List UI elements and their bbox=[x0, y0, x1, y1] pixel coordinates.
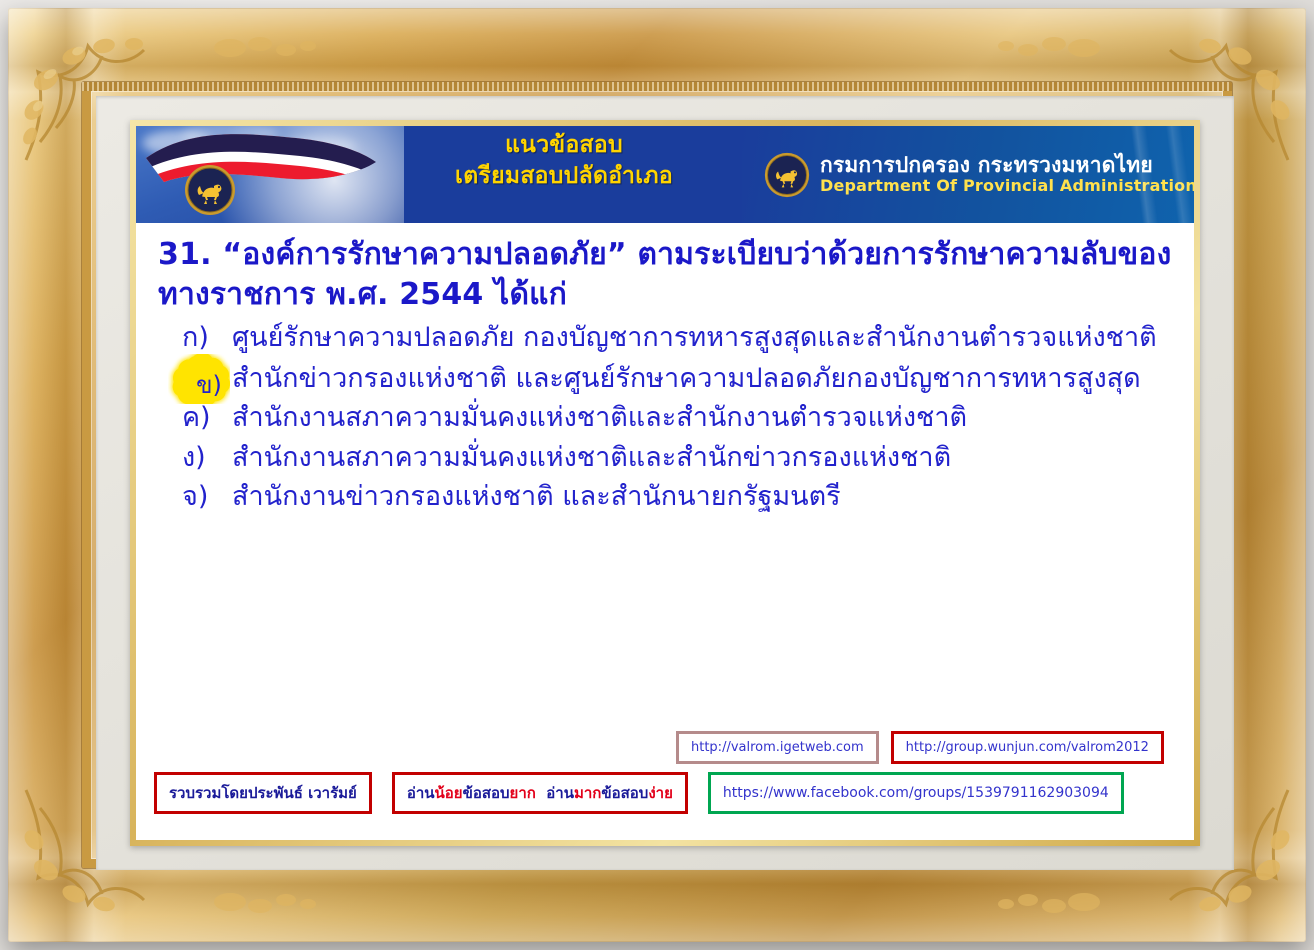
slogan-token-3: ยาก bbox=[510, 784, 536, 802]
choice-cho[interactable]: จ) สำนักงานข่าวกรองแห่งชาติ และสำนักนายก… bbox=[178, 478, 1176, 516]
slogan-token-1: น้อย bbox=[435, 784, 463, 802]
choice-label-ngo: ง) bbox=[178, 439, 232, 477]
link-facebook-group[interactable]: https://www.facebook.com/groups/15397911… bbox=[708, 772, 1124, 814]
org-names: กรมการปกครอง กระทรวงมหาดไทย Department O… bbox=[820, 154, 1194, 195]
link-valrom-igetweb[interactable]: http://valrom.igetweb.com bbox=[676, 731, 879, 764]
choice-ngo[interactable]: ง) สำนักงานสภาความมั่นคงแห่งชาติและสำนัก… bbox=[178, 439, 1176, 477]
credit-box: รวบรวมโดยประพันธ์ เวารัมย์ bbox=[154, 772, 372, 814]
choice-text-ka: ศูนย์รักษาความปลอดภัย กองบัญชาการทหารสูง… bbox=[232, 319, 1176, 357]
banner-title: แนวข้อสอบ เตรียมสอบปลัดอำเภอ bbox=[404, 130, 724, 191]
slogan-token-0: อ่าน bbox=[407, 784, 435, 802]
dopa-lion-seal-icon-right bbox=[764, 152, 810, 198]
choice-label-cho: จ) bbox=[178, 478, 232, 516]
choice-label-ka: ก) bbox=[178, 319, 232, 357]
slide-body: 31. “องค์การรักษาความปลอดภัย” ตามระเบียบ… bbox=[136, 223, 1194, 516]
choice-text-kho2: สำนักงานสภาความมั่นคงแห่งชาติและสำนักงาน… bbox=[232, 399, 1176, 437]
slogan-token-4: อ่าน bbox=[536, 784, 574, 802]
picture-frame: แนวข้อสอบ เตรียมสอบปลัดอำเภอ bbox=[8, 8, 1306, 942]
banner-org-panel: กรมการปกครอง กระทรวงมหาดไทย Department O… bbox=[742, 126, 1194, 223]
frame-edge-ornament-top-left bbox=[208, 24, 328, 70]
footer-links-top-row: http://valrom.igetweb.com http://group.w… bbox=[676, 731, 1164, 764]
dopa-lion-seal-icon bbox=[184, 164, 236, 216]
frame-gold-fillet: แนวข้อสอบ เตรียมสอบปลัดอำเภอ bbox=[130, 120, 1200, 846]
footer-links-bottom-row: รวบรวมโดยประพันธ์ เวารัมย์ อ่านน้อยข้อสอ… bbox=[154, 772, 1182, 814]
slogan-tokens: อ่านน้อยข้อสอบยาก อ่านมากข้อสอบง่าย bbox=[407, 781, 673, 805]
org-name-thai: กรมการปกครอง กระทรวงมหาดไทย bbox=[820, 154, 1194, 176]
slogan-token-6: ข้อสอบ bbox=[601, 784, 648, 802]
slogan-box: อ่านน้อยข้อสอบยาก อ่านมากข้อสอบง่าย bbox=[392, 772, 688, 814]
choice-kho[interactable]: ข) สำนักข่าวกรองแห่งชาติ และศูนย์รักษาคว… bbox=[178, 360, 1176, 398]
frame-edge-ornament-bottom-left bbox=[208, 880, 328, 926]
frame-edge-ornament-top-right bbox=[986, 24, 1106, 70]
choice-label-kho: ข) bbox=[178, 360, 240, 410]
choice-text-kho: สำนักข่าวกรองแห่งชาติ และศูนย์รักษาความป… bbox=[232, 360, 1176, 398]
link-group-wunjun[interactable]: http://group.wunjun.com/valrom2012 bbox=[891, 731, 1164, 764]
org-name-english: Department Of Provincial Administration bbox=[820, 177, 1194, 195]
choice-text-cho: สำนักงานข่าวกรองแห่งชาติ และสำนักนายกรัฐ… bbox=[232, 478, 1176, 516]
thai-flag-icon bbox=[140, 128, 380, 202]
banner-title-line1: แนวข้อสอบ bbox=[404, 130, 724, 161]
slide-content: แนวข้อสอบ เตรียมสอบปลัดอำเภอ bbox=[136, 126, 1194, 840]
choice-ka[interactable]: ก) ศูนย์รักษาความปลอดภัย กองบัญชาการทหาร… bbox=[178, 319, 1176, 357]
question-text: 31. “องค์การรักษาความปลอดภัย” ตามระเบียบ… bbox=[158, 235, 1176, 315]
banner-flag-panel bbox=[136, 126, 404, 223]
slogan-token-7: ง่าย bbox=[648, 784, 673, 802]
choice-text-ngo: สำนักงานสภาความมั่นคงแห่งชาติและสำนักข่า… bbox=[232, 439, 1176, 477]
banner-title-line2: เตรียมสอบปลัดอำเภอ bbox=[404, 161, 724, 192]
slogan-token-2: ข้อสอบ bbox=[463, 784, 510, 802]
choice-kho2[interactable]: ค) สำนักงานสภาความมั่นคงแห่งชาติและสำนัก… bbox=[178, 399, 1176, 437]
frame-edge-ornament-bottom-right bbox=[986, 880, 1106, 926]
slogan-token-5: มาก bbox=[574, 784, 601, 802]
header-banner: แนวข้อสอบ เตรียมสอบปลัดอำเภอ bbox=[136, 126, 1194, 223]
page-background: แนวข้อสอบ เตรียมสอบปลัดอำเภอ bbox=[0, 0, 1314, 950]
